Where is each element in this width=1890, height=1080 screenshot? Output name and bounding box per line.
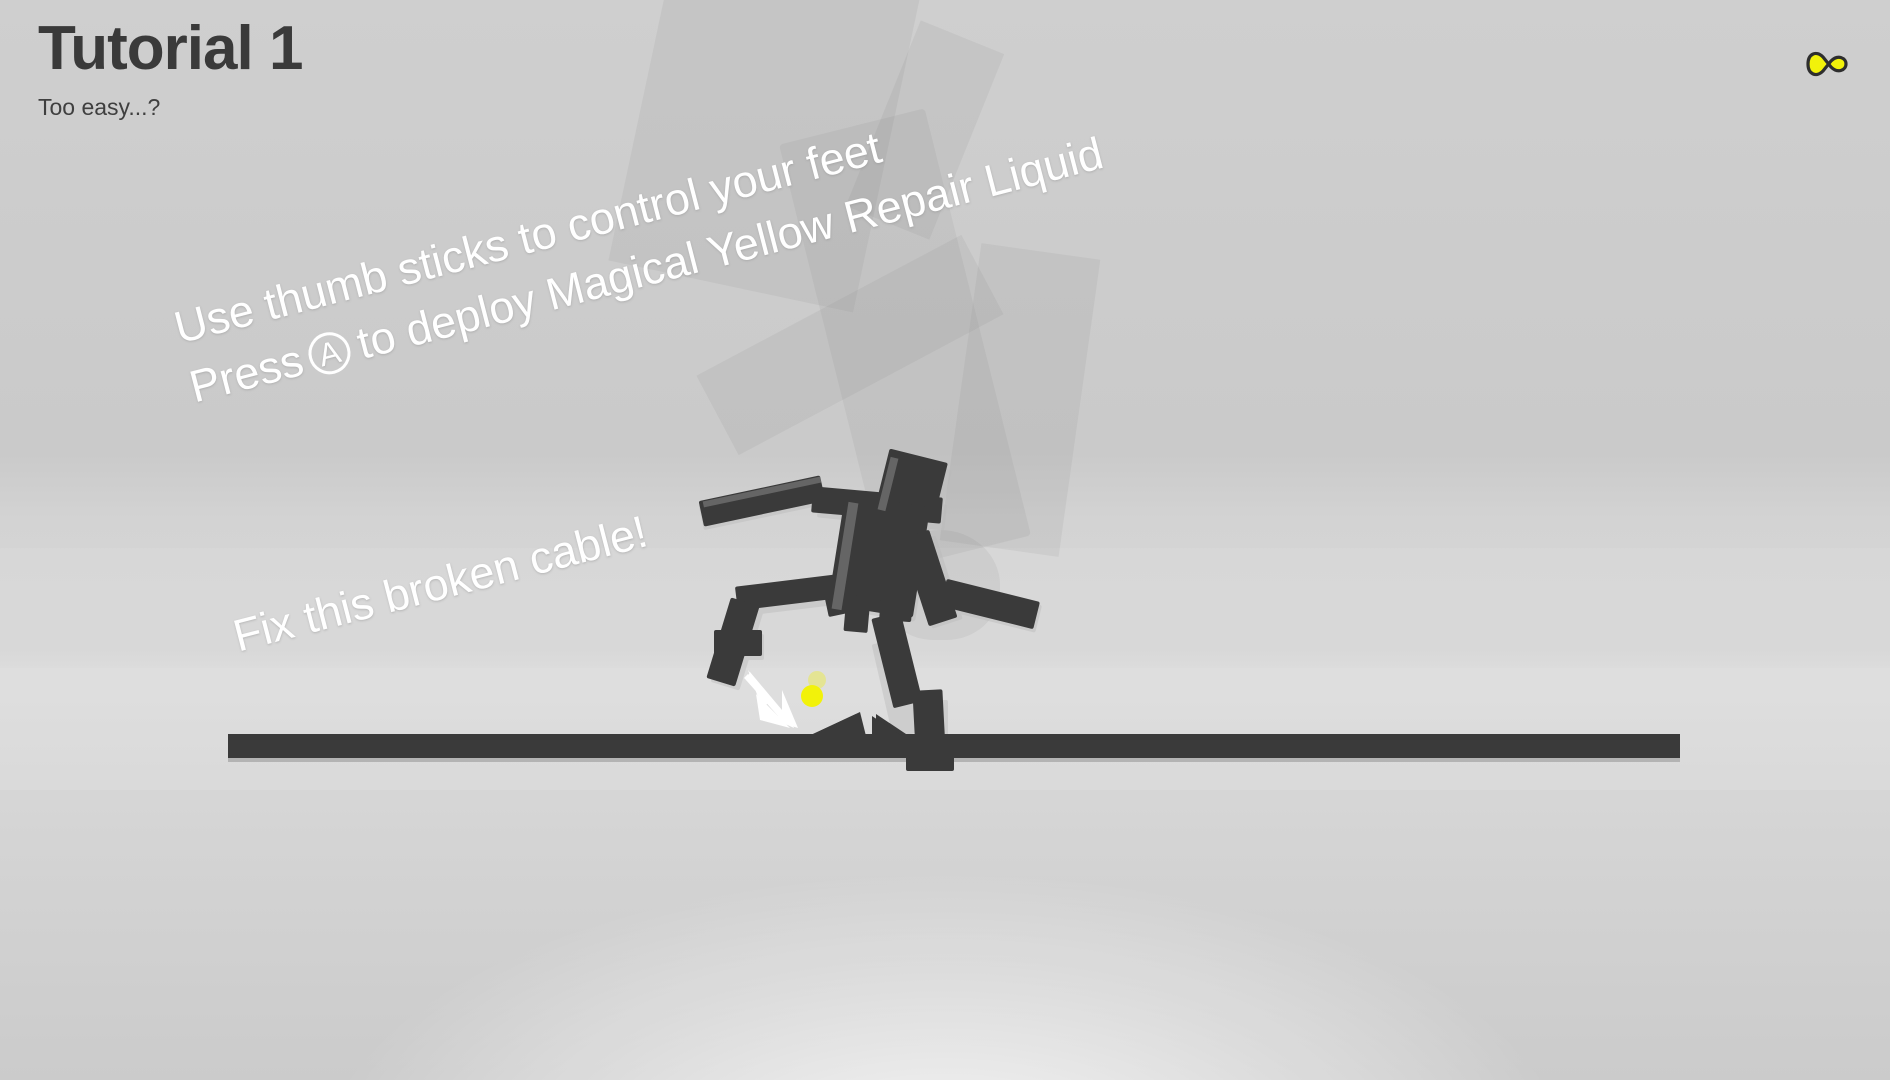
foot-left <box>714 630 762 656</box>
cable-ground <box>0 700 1890 820</box>
cable-bar <box>228 734 1680 758</box>
arm-segment-lower-right <box>940 579 1040 629</box>
game-stage: Tutorial 1 Too easy...? Use thumb sticks… <box>0 0 1890 1080</box>
pelvis-block <box>843 595 870 633</box>
cable-shadow <box>228 758 1680 762</box>
broken-cable-gap <box>796 712 906 742</box>
ragdoll-character <box>0 0 1890 1080</box>
